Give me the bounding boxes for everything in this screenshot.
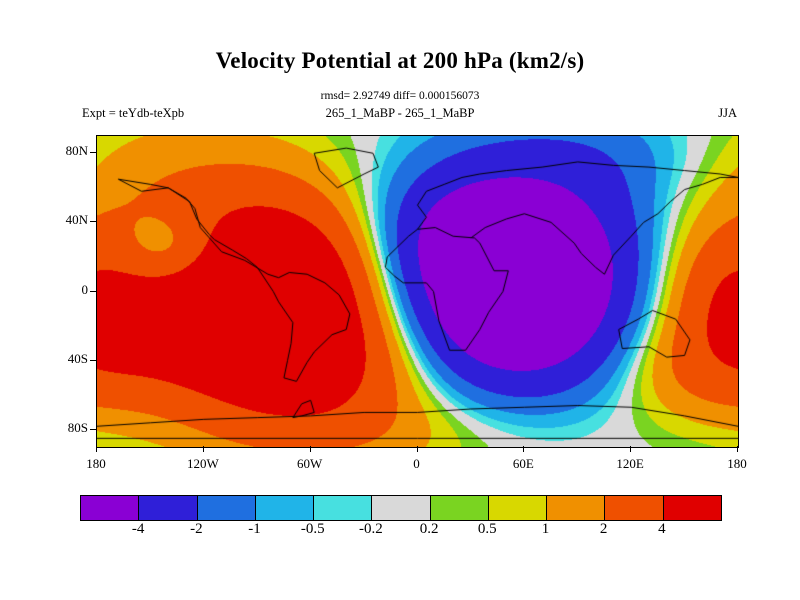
x-tick-label: 60E	[493, 456, 553, 472]
colorbar-tick-label: 0.5	[467, 521, 507, 538]
page-title: Velocity Potential at 200 hPa (km2/s)	[0, 48, 800, 74]
season-label: JJA	[718, 106, 737, 121]
colorbar-swatch	[371, 496, 429, 520]
x-tick-label: 180	[66, 456, 126, 472]
colorbar-tick-label: 1	[525, 521, 565, 538]
x-tick-label: 60W	[280, 456, 340, 472]
colorbar-swatch	[81, 496, 138, 520]
x-tick-label: 180	[707, 456, 767, 472]
y-tick-label: 80S	[28, 420, 88, 436]
x-tick-mark	[417, 446, 418, 452]
stats-line: rmsd= 2.92749 diff= 0.000156073	[0, 90, 800, 102]
colorbar-tick-label: 2	[584, 521, 624, 538]
colorbar-swatch	[488, 496, 546, 520]
colorbar-swatch	[430, 496, 488, 520]
case-label: 265_1_MaBP - 265_1_MaBP	[0, 106, 800, 121]
x-tick-mark	[737, 446, 738, 452]
colorbar-swatch	[663, 496, 721, 520]
y-tick-label: 80N	[28, 143, 88, 159]
x-tick-label: 0	[387, 456, 447, 472]
y-tick-label: 40S	[28, 351, 88, 367]
colorbar-swatch	[197, 496, 255, 520]
colorbar-tick-label: -0.2	[351, 521, 391, 538]
colorbar-tick-label: -1	[235, 521, 275, 538]
colorbar-tick-label: 0.2	[409, 521, 449, 538]
x-tick-mark	[310, 446, 311, 452]
x-tick-mark	[523, 446, 524, 452]
colorbar-swatch	[546, 496, 604, 520]
y-tick-mark	[90, 152, 96, 153]
y-tick-mark	[90, 291, 96, 292]
map-plot-area	[96, 135, 739, 448]
y-tick-label: 0	[28, 282, 88, 298]
colorbar-tick-label: -0.5	[293, 521, 333, 538]
y-tick-label: 40N	[28, 212, 88, 228]
colorbar-swatch	[255, 496, 313, 520]
y-tick-mark	[90, 429, 96, 430]
x-tick-label: 120E	[600, 456, 660, 472]
colorbar	[80, 495, 722, 521]
coastline-overlay	[97, 136, 738, 447]
colorbar-swatch	[138, 496, 196, 520]
x-tick-mark	[203, 446, 204, 452]
colorbar-tick-label: 4	[642, 521, 682, 538]
y-tick-mark	[90, 221, 96, 222]
colorbar-tick-label: -4	[118, 521, 158, 538]
colorbar-tick-label: -2	[176, 521, 216, 538]
x-tick-mark	[630, 446, 631, 452]
x-tick-mark	[96, 446, 97, 452]
x-tick-label: 120W	[173, 456, 233, 472]
figure-root: Velocity Potential at 200 hPa (km2/s) rm…	[0, 0, 800, 600]
colorbar-swatch	[313, 496, 371, 520]
colorbar-swatch	[604, 496, 662, 520]
y-tick-mark	[90, 360, 96, 361]
